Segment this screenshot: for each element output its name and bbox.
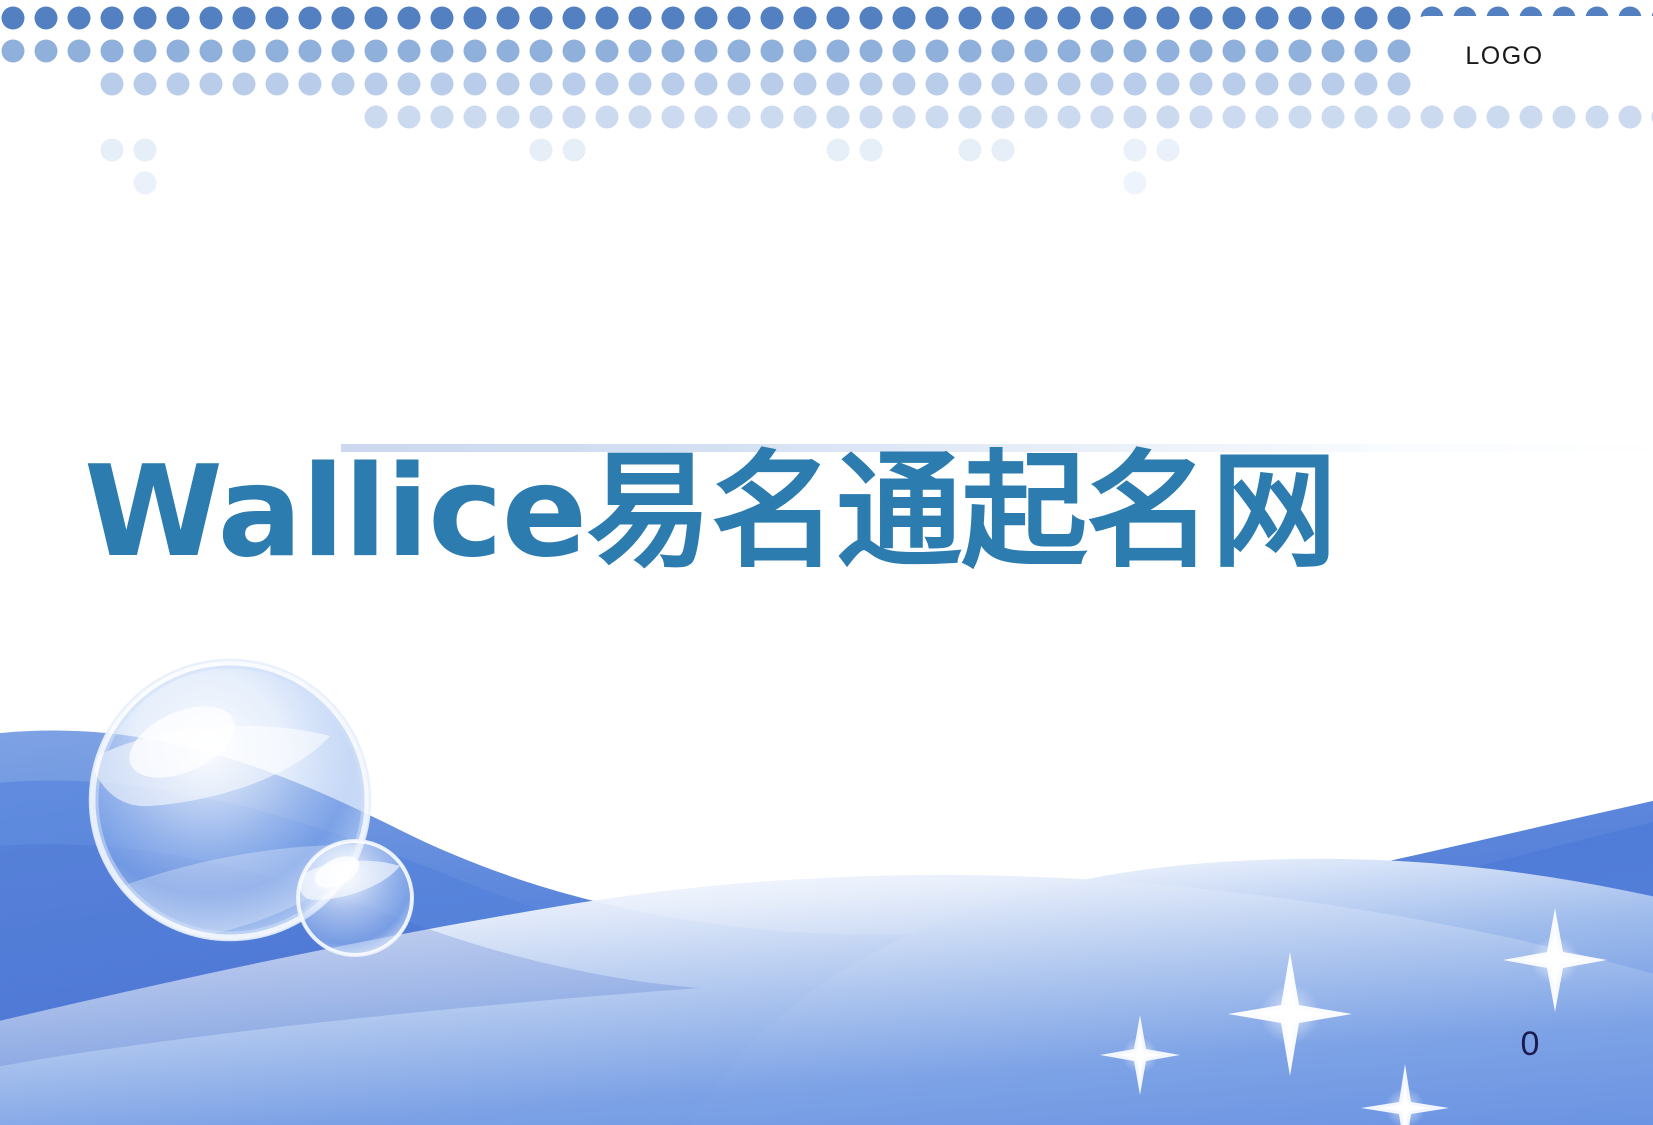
page-title: Wallice易名通起名网 — [84, 428, 1584, 608]
logo-label: LOGO — [1465, 42, 1543, 71]
page-number: 0 — [1500, 1025, 1560, 1064]
title-slide: LOGO Wallice易名通起名网 0 — [0, 0, 1653, 1125]
logo-placeholder[interactable]: LOGO — [1412, 16, 1653, 96]
